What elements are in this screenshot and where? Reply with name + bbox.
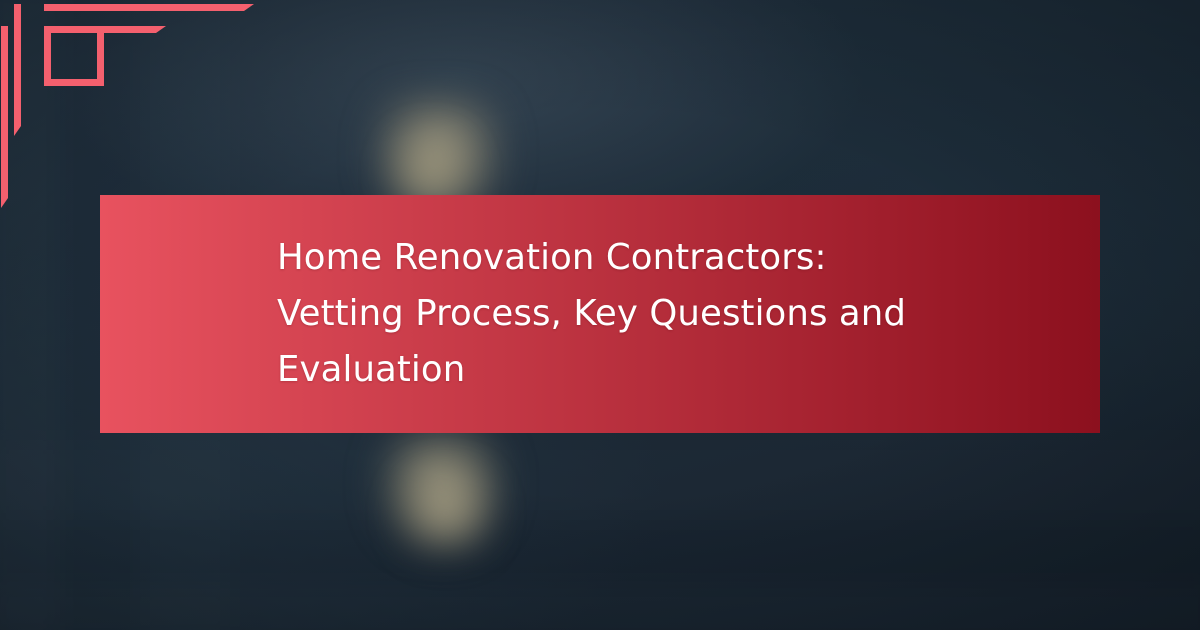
title-card-canvas: Home Renovation Contractors: Vetting Pro… (0, 0, 1200, 630)
corner-line-vertical-short (14, 4, 21, 126)
corner-line-vertical-long (1, 26, 8, 198)
corner-line-horizontal-long (44, 4, 244, 11)
title-banner: Home Renovation Contractors: Vetting Pro… (100, 195, 1100, 433)
corner-square-outline (44, 26, 104, 86)
page-title: Home Renovation Contractors: Vetting Pro… (277, 230, 957, 398)
corner-dot (14, 4, 21, 11)
